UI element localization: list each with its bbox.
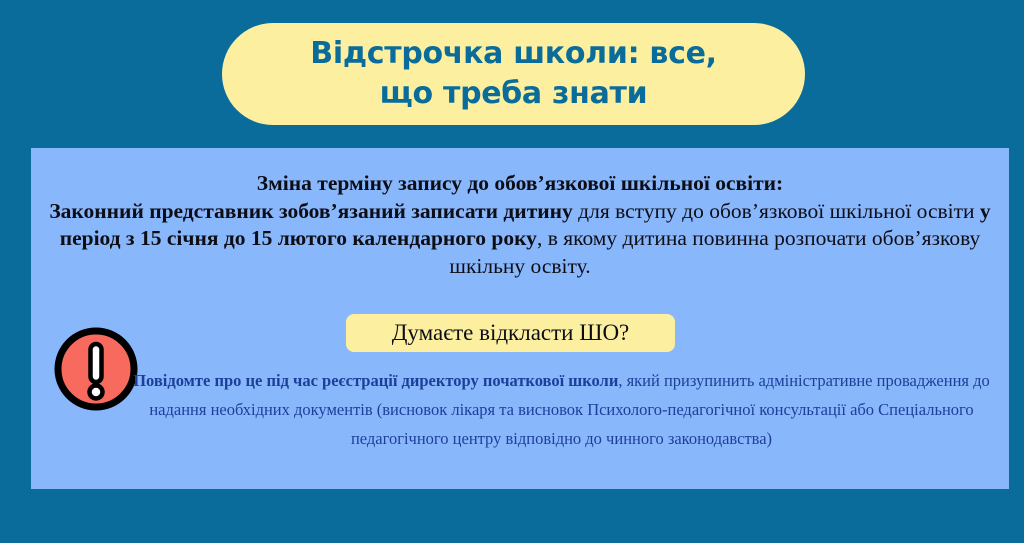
note-bold-1: Повідомте про це під час реєстрації дире…	[133, 371, 618, 390]
title-line-1: Відстрочка школи: все,	[310, 34, 716, 74]
content-panel: Зміна терміну запису до обов’язкової шкі…	[31, 148, 1009, 489]
title-banner: Відстрочка школи: все, що треба знати	[222, 23, 805, 125]
title-line-2: що треба знати	[380, 74, 648, 114]
exclamation-circle-icon	[52, 325, 140, 413]
note-block: Повідомте про це під час реєстрації дире…	[129, 366, 994, 453]
statement-block: Зміна терміну запису до обов’язкової шкі…	[41, 170, 999, 280]
question-text: Думаєте відкласти ШО?	[392, 319, 630, 347]
statement-regular-1: для вступу до обов’язкової шкільної осві…	[573, 199, 980, 223]
question-highlight: Думаєте відкласти ШО?	[346, 314, 675, 352]
statement-bold-1: Законний представник зобов’язаний записа…	[49, 199, 572, 223]
infographic-poster: Відстрочка школи: все, що треба знати Зм…	[0, 0, 1024, 543]
statement-heading: Зміна терміну запису до обов’язкової шкі…	[257, 171, 783, 195]
